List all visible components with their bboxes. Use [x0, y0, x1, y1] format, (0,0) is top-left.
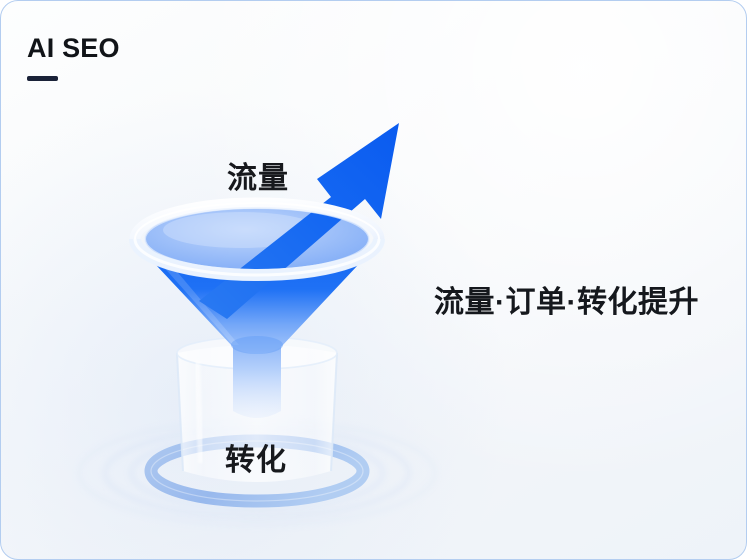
brand-title-block: AI SEO — [27, 35, 120, 81]
funnel-top-label: 流量 — [227, 153, 289, 197]
slide-canvas: AI SEO 流量 转化 流量·订单·转化提升 — [0, 0, 747, 560]
funnel-bottom-label: 转化 — [225, 435, 287, 479]
page-title: AI SEO — [27, 35, 120, 62]
tagline-text: 流量·订单·转化提升 — [434, 277, 699, 321]
title-underline-rule — [27, 76, 58, 81]
